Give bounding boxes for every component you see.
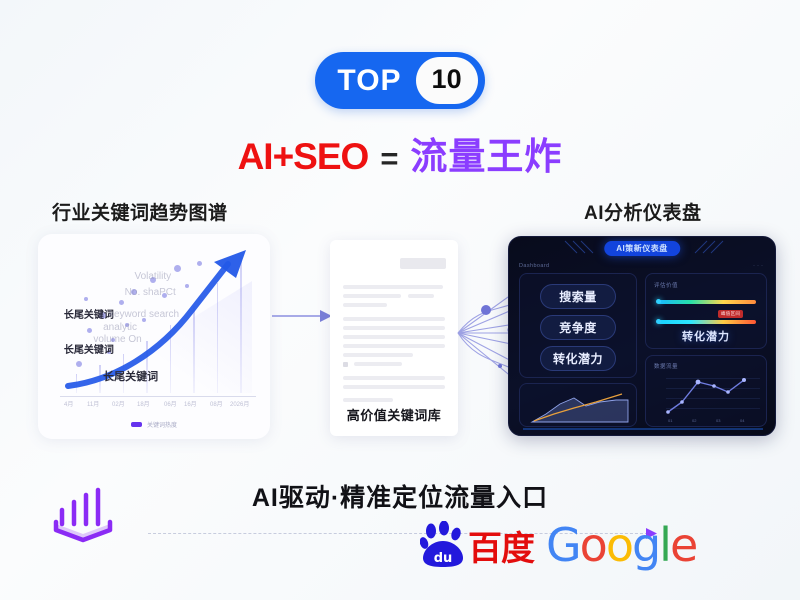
chart-x-tick: 06月: [164, 399, 177, 408]
headline-secondary: 流量王炸: [410, 126, 562, 180]
metric-button-conversion-potential[interactable]: 转化潜力: [540, 346, 616, 371]
dashboard-menu-icon[interactable]: ···: [753, 263, 765, 269]
chart-x-axis: [60, 396, 256, 397]
dashboard-brand-label: Dashboard: [519, 263, 550, 269]
document-text-line: [343, 294, 401, 298]
dashboard-header-decoration-left: [555, 237, 611, 259]
page-title: AI+SEO = 流量王炸: [0, 126, 800, 180]
google-letter-g2: g: [632, 518, 659, 572]
document-text-line: [343, 326, 445, 330]
chart-x-tick: 4月: [64, 399, 73, 408]
gauge-bar-primary: [658, 300, 756, 304]
chart-annotation-blurred: volume On: [93, 334, 141, 345]
top-badge-container: TOP 10: [0, 52, 800, 109]
google-letter-e: e: [670, 518, 696, 572]
chart-x-tick: 18月: [137, 399, 150, 408]
document-text-line: [343, 317, 445, 321]
chart-annotation-blurred: keyword search: [109, 309, 179, 320]
headline-primary: AI+SEO: [238, 136, 369, 178]
metric-button-search-volume[interactable]: 搜索量: [540, 284, 616, 309]
document-text-line: [343, 398, 393, 402]
dashboard-header-decoration-right: [673, 237, 729, 259]
document-text-line: [343, 376, 445, 380]
document-text-line: [343, 303, 387, 307]
baidu-logo: du 百度: [420, 521, 534, 569]
right-section-label: AI分析仪表盘: [584, 198, 702, 225]
document-text-line: [343, 344, 445, 348]
top-badge-number: 10: [416, 57, 478, 104]
document-text-line: [343, 385, 445, 389]
top-rank-badge: TOP 10: [315, 52, 484, 109]
google-letter-g1: G: [546, 518, 580, 572]
document-text-line: [343, 335, 445, 339]
google-logo: Google: [546, 522, 696, 568]
gauge-knob[interactable]: [656, 299, 661, 304]
dashboard-area-chart-panel: [519, 383, 637, 427]
google-letter-o1: o: [580, 518, 606, 572]
chart-inner: 长尾关键词 长尾关键词 长尾关键词 Volatility No. shaPCt …: [38, 234, 270, 439]
dashboard-area-series: [530, 388, 632, 424]
line-x-tick: 04: [740, 418, 744, 423]
top-badge-label: TOP: [337, 66, 415, 96]
document-text-line: [343, 353, 413, 357]
dashboard-line-series: [664, 368, 762, 418]
gauge-peak-tag: 峰值区间: [718, 310, 743, 318]
chart-annotation-keyword: 长尾关键词: [64, 306, 114, 321]
ai-analytics-dashboard: AI策新仪表盘 Dashboard ··· 搜索量 竞争度 转化潜力 评估价值 …: [508, 236, 776, 436]
dashboard-metrics-panel: 搜索量 竞争度 转化潜力: [519, 273, 637, 378]
chart-x-tick: 08月: [210, 399, 223, 408]
document-text-line: [408, 294, 434, 298]
baidu-paw-icon: du: [420, 521, 466, 569]
chart-legend-label: 关键词热度: [147, 420, 177, 429]
chart-x-tick: 16月: [184, 399, 197, 408]
line-x-tick: 02: [692, 418, 696, 423]
baidu-logo-text: 百度: [468, 532, 534, 569]
document-text-line: [354, 362, 402, 366]
gauge-overlay-label: 转化潜力: [646, 328, 766, 344]
baidu-du-text: du: [434, 551, 453, 566]
footer-headline: AI驱动·精准定位流量入口: [0, 478, 800, 514]
chart-x-tick: 2026月: [230, 399, 249, 408]
dashboard-value-gauge-panel: 评估价值 峰值区间 转化潜力: [645, 273, 767, 349]
line-x-tick: 03: [716, 418, 720, 423]
metric-button-competition[interactable]: 竞争度: [540, 315, 616, 340]
keyword-library-document: 高价值关键词库: [330, 240, 458, 436]
left-section-label: 行业关键词趋势图谱: [52, 198, 228, 225]
google-letter-l: l: [659, 518, 670, 572]
document-header-chip: [400, 258, 446, 269]
chart-annotation-blurred: No. shaPCt: [125, 287, 176, 298]
line-x-tick: 01: [668, 418, 672, 423]
headline-equals: =: [380, 141, 398, 177]
gauge-knob[interactable]: [656, 319, 661, 324]
chart-plot-area: 长尾关键词 长尾关键词 长尾关键词 Volatility No. shaPCt …: [60, 248, 256, 393]
dashboard-bottom-glow: [515, 426, 771, 432]
gauge-bar-secondary: [658, 320, 756, 324]
keyword-trend-chart-card: 长尾关键词 长尾关键词 长尾关键词 Volatility No. shaPCt …: [38, 234, 270, 439]
document-title: 高价值关键词库: [330, 405, 458, 424]
chart-annotation-blurred: Volatility: [134, 271, 171, 282]
chart-legend-swatch: [131, 422, 142, 427]
google-letter-o2: o: [606, 518, 632, 572]
chart-annotation-keyword: 长尾关键词: [103, 368, 158, 384]
chart-x-tick: 02月: [112, 399, 125, 408]
document-bullet: [343, 362, 348, 367]
flow-arrow-icon: [272, 306, 334, 326]
chart-legend: 关键词热度: [38, 420, 270, 429]
chart-annotation-blurred: analytic: [103, 322, 137, 333]
dashboard-header-badge: AI策新仪表盘: [604, 241, 680, 256]
gauge-panel-caption: 评估价值: [654, 281, 678, 289]
document-text-line: [343, 285, 443, 289]
partner-logos: du 百度 Google: [420, 521, 696, 569]
chart-x-tick: 11月: [87, 399, 99, 408]
dashboard-traffic-line-panel: 数据流量 01 02 03 04: [645, 355, 767, 427]
